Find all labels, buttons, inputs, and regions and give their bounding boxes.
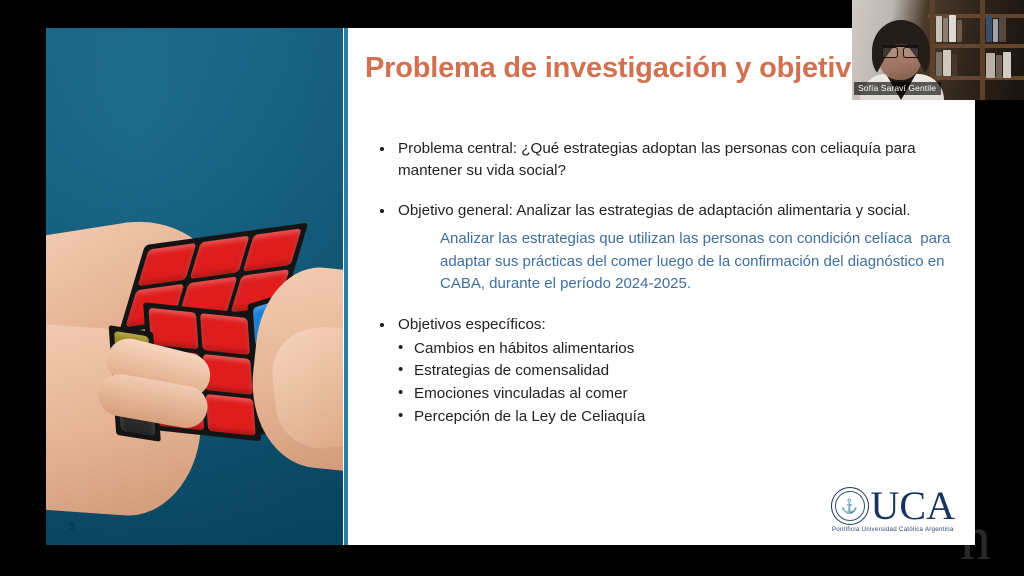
book <box>999 15 1006 42</box>
sub-bullet-item: Emociones vinculadas al comer <box>398 383 951 406</box>
slide-content-panel: Problema de investigación y objetivos Pr… <box>348 28 975 545</box>
bullet-item-problema-central: Problema central: ¿Qué estrategias adopt… <box>376 138 951 182</box>
objetivo-general-detail: Analizar las estrategias que utilizan la… <box>440 228 951 296</box>
uca-wordmark: UCA <box>871 488 955 525</box>
slide-photo-panel: 3 <box>46 28 343 545</box>
bullet-text: Objetivos específicos: <box>398 316 546 333</box>
presentation-slide[interactable]: 3 Problema de investigación y objetivos … <box>46 28 975 545</box>
bullet-text: Objetivo general: Analizar las estrategi… <box>398 202 910 219</box>
book <box>943 18 948 42</box>
sub-bullet-item: Cambios en hábitos alimentarios <box>398 338 951 361</box>
slide-body: Problema central: ¿Qué estrategias adopt… <box>376 138 951 447</box>
participant-name-label: Sofía Saraví Gentile <box>854 82 941 95</box>
book <box>993 19 998 42</box>
bookshelf-upright <box>980 0 985 100</box>
webcam-video-tile[interactable]: Sofía Saraví Gentile <box>852 0 1024 100</box>
slide-title: Problema de investigación y objetivos <box>365 52 885 85</box>
book <box>949 15 956 42</box>
book <box>1003 52 1011 78</box>
cube-sticker <box>190 236 249 279</box>
book <box>996 55 1002 78</box>
anchor-icon: ⚓ <box>841 499 858 513</box>
cube-sticker <box>200 313 250 355</box>
uca-tagline: Pontificia Universidad Católica Argentin… <box>832 526 954 533</box>
bookshelf-shelf <box>928 44 1024 48</box>
bullet-item-objetivos-especificos: Objetivos específicos: Cambios en hábito… <box>376 314 951 429</box>
bullet-text: Problema central: ¿Qué estrategias adopt… <box>398 140 916 179</box>
sub-bullet-item: Percepción de la Ley de Celiaquía <box>398 406 951 429</box>
uca-seal-icon: ⚓ <box>831 487 869 525</box>
bullet-item-objetivo-general: Objetivo general: Analizar las estrategi… <box>376 200 951 296</box>
sub-bullet-list: Cambios en hábitos alimentarios Estrateg… <box>398 338 951 429</box>
cube-sticker <box>206 394 256 436</box>
slide-number: 3 <box>69 521 75 533</box>
book <box>957 20 962 42</box>
cube-sticker <box>242 228 301 271</box>
glasses-icon <box>882 45 919 56</box>
screen-share-stage: n <box>0 0 1024 576</box>
cube-sticker <box>148 308 198 350</box>
book <box>952 54 957 76</box>
uca-logo: ⚓ UCA Pontificia Universidad Católica Ar… <box>831 487 955 533</box>
cube-sticker <box>138 243 197 286</box>
uca-logo-row: ⚓ UCA <box>831 487 955 525</box>
book <box>936 16 942 42</box>
sub-bullet-item: Estrategias de comensalidad <box>398 360 951 383</box>
book <box>986 16 992 42</box>
book <box>943 50 951 76</box>
book <box>986 53 995 78</box>
book <box>936 52 942 76</box>
bullet-list: Problema central: ¿Qué estrategias adopt… <box>376 138 951 429</box>
